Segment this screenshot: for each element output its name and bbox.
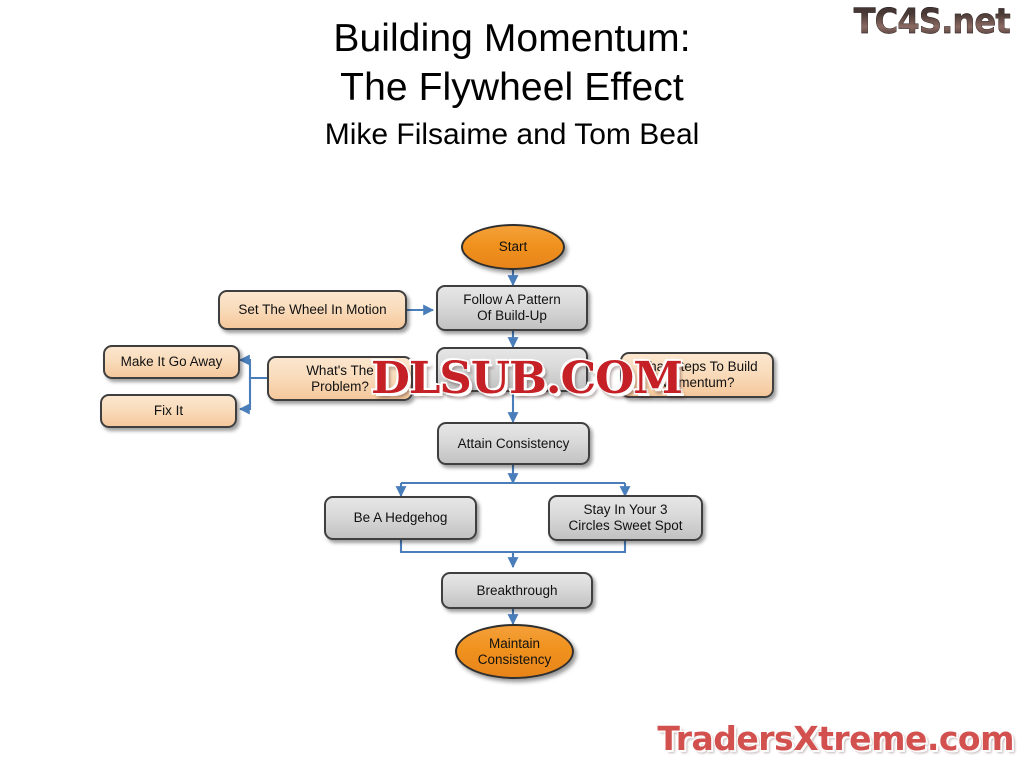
node-follow-a-pattern[interactable]: Follow A Pattern Of Build-Up [436, 285, 588, 331]
node-make-it-go-away-label: Make It Go Away [115, 354, 229, 370]
node-maintain-consistency[interactable]: Maintain Consistency [455, 624, 574, 679]
edge-problem-to-fixit [240, 378, 267, 409]
node-attain-consistency-label: Attain Consistency [452, 436, 576, 452]
node-be-a-hedgehog-label: Be A Hedgehog [348, 510, 454, 526]
node-stay-in-your-3-circles-sweet-spot[interactable]: Stay In Your 3 Circles Sweet Spot [548, 495, 703, 541]
node-breakthrough-label: Breakthrough [470, 583, 563, 599]
node-fix-it-label: Fix It [148, 403, 189, 419]
node-maintain-consistency-label: Maintain Consistency [472, 636, 558, 668]
node-start-label: Start [493, 239, 534, 255]
node-whats-the-problem-label: What's The Problem? [300, 363, 380, 395]
node-attain-consistency[interactable]: Attain Consistency [437, 422, 590, 465]
node-stay-in-your-3-circles-sweet-spot-label: Stay In Your 3 Circles Sweet Spot [562, 502, 688, 534]
merge-bar-breakthrough [401, 540, 625, 552]
node-breakthrough[interactable]: Breakthrough [441, 572, 593, 609]
node-make-it-go-away[interactable]: Make It Go Away [103, 345, 240, 379]
dlsub-watermark: DLSUB.COM [371, 355, 682, 403]
edge-problem-to-goaway [240, 360, 267, 378]
node-set-the-wheel-in-motion-label: Set The Wheel In Motion [232, 302, 392, 318]
node-fix-it[interactable]: Fix It [100, 394, 237, 428]
node-be-a-hedgehog[interactable]: Be A Hedgehog [324, 496, 477, 540]
node-start[interactable]: Start [461, 224, 565, 270]
node-follow-a-pattern-label: Follow A Pattern Of Build-Up [457, 292, 567, 324]
node-set-the-wheel-in-motion[interactable]: Set The Wheel In Motion [218, 290, 407, 330]
